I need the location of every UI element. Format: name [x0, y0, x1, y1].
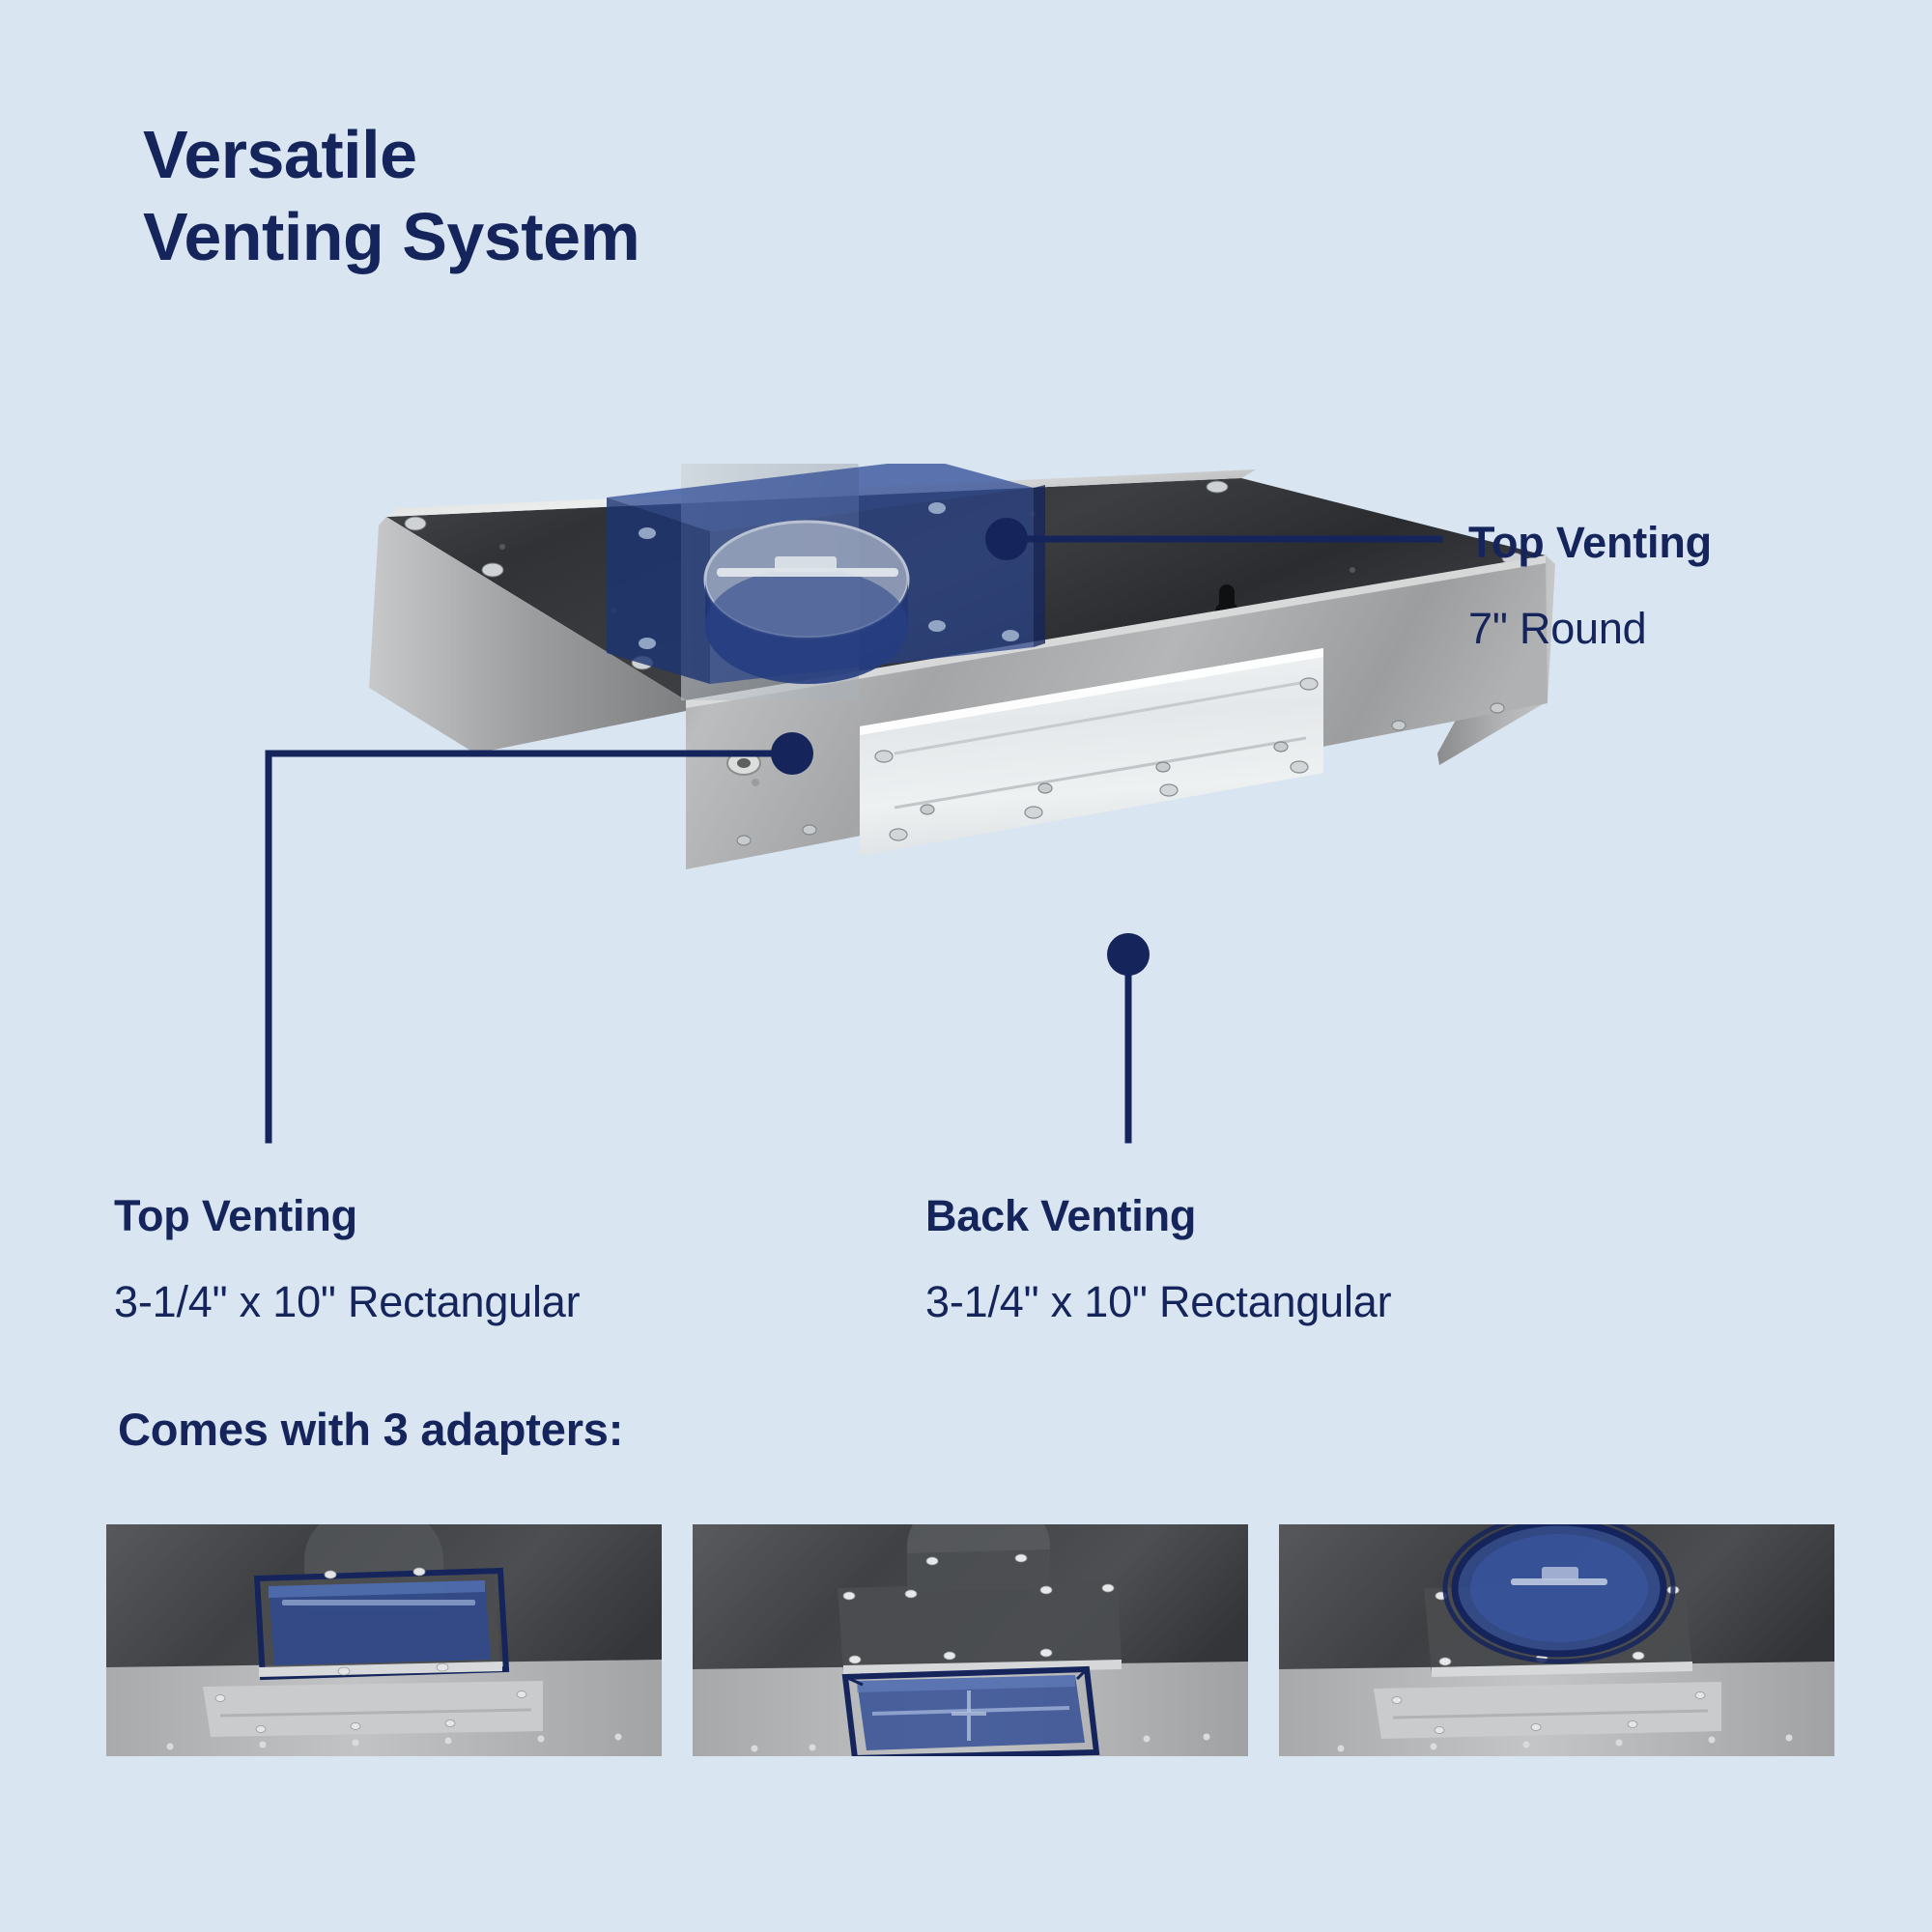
- adapter-thumbnail-row: [106, 1524, 1835, 1756]
- callout-heading: Top Venting: [1468, 518, 1712, 568]
- round-duct-opening: [705, 522, 908, 684]
- page-title: Versatile Venting System: [143, 114, 639, 277]
- adapter-thumbnail-top-round[interactable]: [1279, 1524, 1834, 1756]
- callout-top-venting-rectangular: Top Venting 3-1/4" x 10" Rectangular: [114, 1156, 580, 1364]
- product-illustration: [357, 464, 1584, 1005]
- callout-subtext: 7" Round: [1468, 603, 1712, 656]
- page-title-line1: Versatile: [143, 117, 417, 192]
- callout-heading: Back Venting: [925, 1191, 1391, 1241]
- adapter-thumbnail-back-rectangular[interactable]: [693, 1524, 1248, 1756]
- callout-subtext: 3-1/4" x 10" Rectangular: [925, 1276, 1391, 1329]
- callout-subtext: 3-1/4" x 10" Rectangular: [114, 1276, 580, 1329]
- page-title-line2: Venting System: [143, 199, 639, 274]
- callout-back-venting-rectangular: Back Venting 3-1/4" x 10" Rectangular: [925, 1156, 1391, 1364]
- infographic-canvas: Versatile Venting System: [0, 0, 1932, 1932]
- callout-top-venting-round: Top Venting 7" Round: [1468, 483, 1712, 691]
- duct-damper-tab: [775, 556, 837, 572]
- callout-heading: Top Venting: [114, 1191, 580, 1241]
- adapter-thumbnail-top-rectangular[interactable]: [106, 1524, 662, 1756]
- adapters-section-heading: Comes with 3 adapters:: [118, 1403, 623, 1456]
- adapter-box-right: [1034, 485, 1045, 647]
